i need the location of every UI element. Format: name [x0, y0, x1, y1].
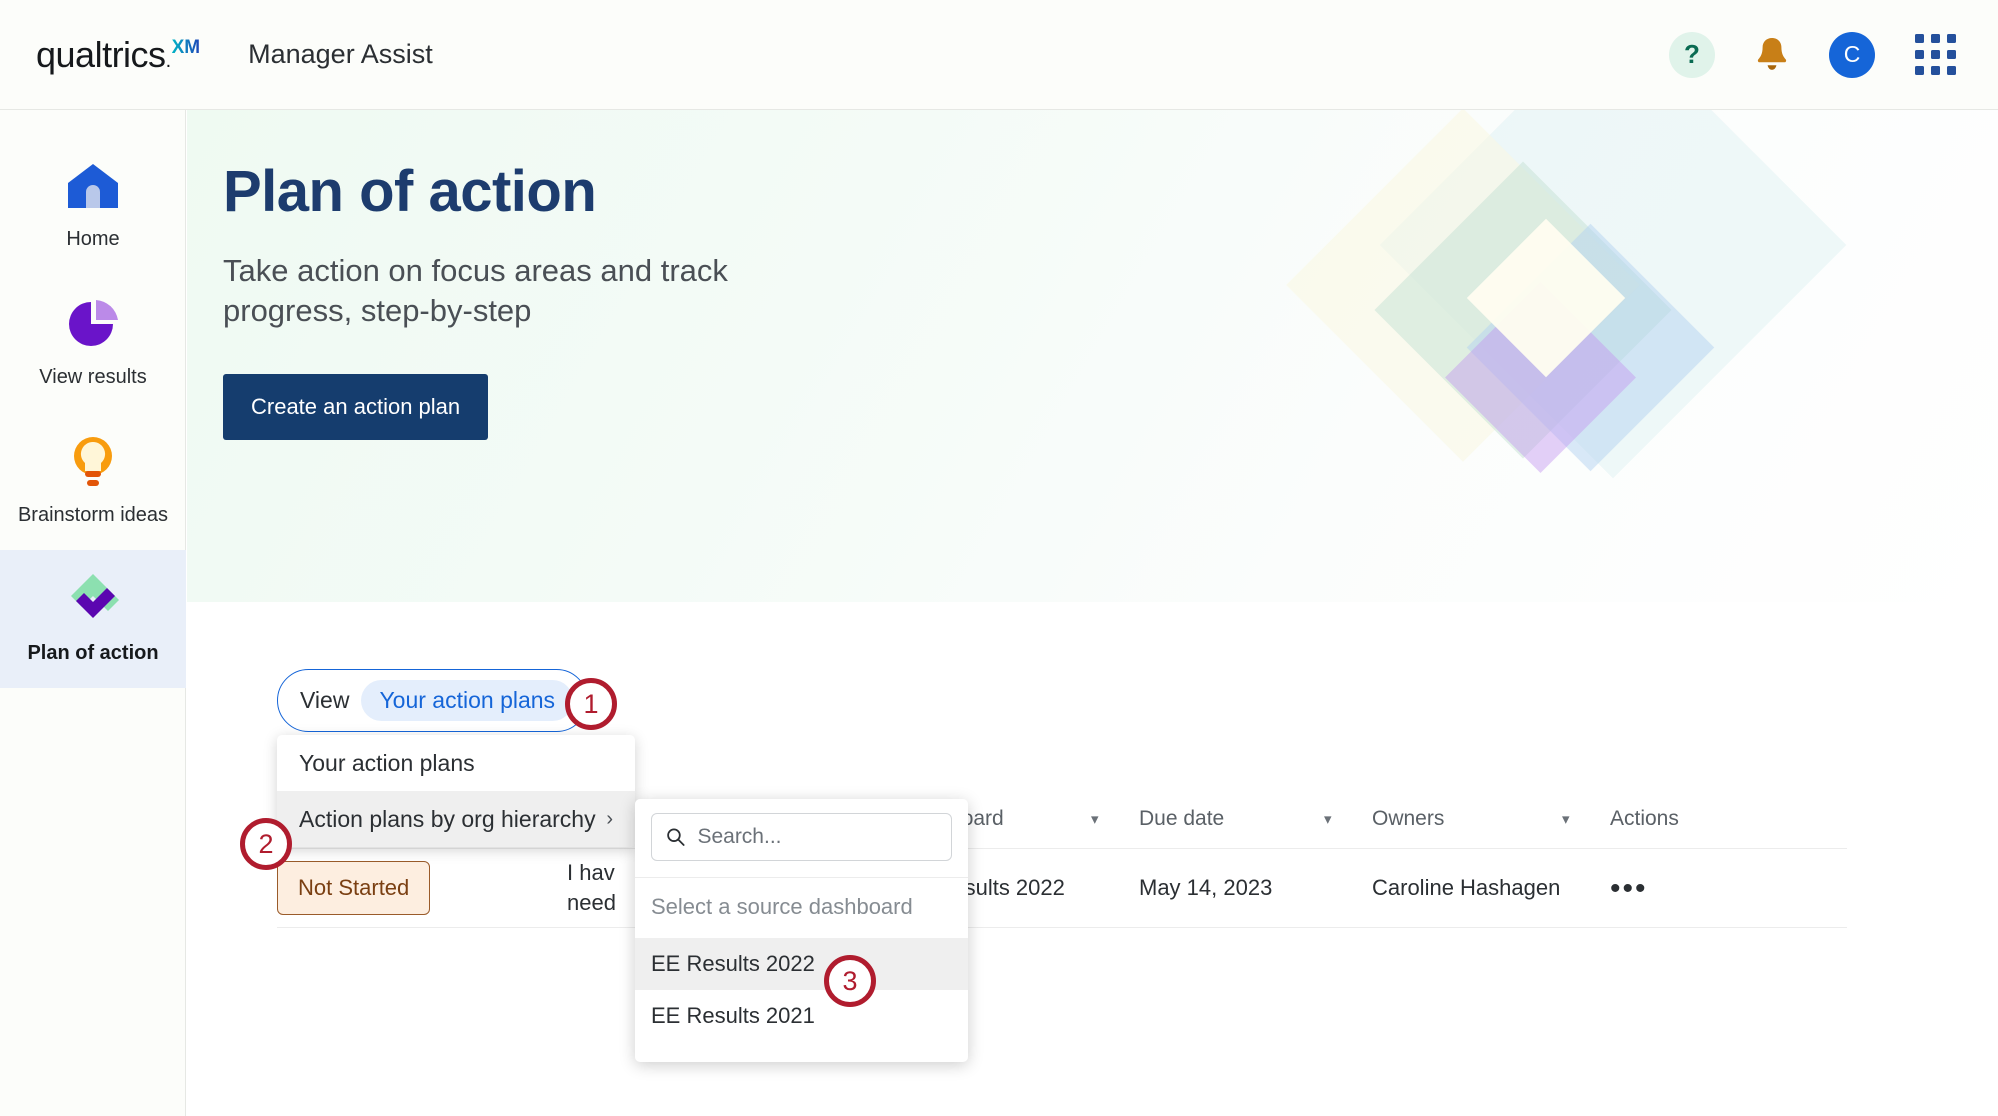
- home-icon: [10, 156, 176, 216]
- sidebar-item-view-results[interactable]: View results: [0, 274, 186, 412]
- row-actions-button[interactable]: •••: [1610, 881, 1648, 896]
- home-icon-svg: [65, 161, 121, 211]
- status-cell: Not Started: [277, 861, 567, 915]
- bell-icon-svg: [1755, 36, 1789, 74]
- pie-chart-icon: [10, 294, 176, 354]
- column-label: Actions: [1610, 807, 1679, 831]
- chevron-down-icon: ▾: [1324, 810, 1332, 828]
- step-badge-2: 2: [240, 818, 292, 870]
- table-sort-owners[interactable]: ▾: [1562, 810, 1610, 828]
- sidebar-item-plan-of-action[interactable]: Plan of action: [0, 550, 186, 688]
- page-title: Plan of action: [223, 158, 1998, 225]
- table-sort-dashboard[interactable]: ▾: [1091, 810, 1139, 828]
- status-badge: Not Started: [277, 861, 430, 915]
- search-icon: [666, 826, 685, 848]
- app-root: qualtrics. XM Manager Assist ? C: [0, 0, 1998, 1116]
- sidebar: Home View results Brainstorm ideas: [0, 110, 186, 1116]
- search-box[interactable]: [651, 813, 952, 861]
- owners-cell: Caroline Hashagen: [1372, 875, 1610, 901]
- menu-item-action-plans-by-org-hierarchy[interactable]: Action plans by org hierarchy ›: [277, 791, 635, 847]
- brand-logo[interactable]: qualtrics. XM: [36, 34, 200, 76]
- grid-dot: [1931, 50, 1940, 59]
- sidebar-item-label: Home: [10, 226, 176, 252]
- table-row[interactable]: Not Started I hav need gy I EE Results 2…: [277, 848, 1847, 928]
- chevron-down-icon: ▾: [1091, 810, 1099, 828]
- diamond-check-icon-svg: [63, 570, 123, 630]
- submenu-group-label: Select a source dashboard: [635, 878, 968, 938]
- submenu-bottom-padding: [635, 1042, 968, 1062]
- brand-xm-badge: XM: [172, 37, 201, 59]
- grid-dot: [1947, 50, 1956, 59]
- grid-menu-icon[interactable]: [1915, 34, 1956, 75]
- view-selector[interactable]: View Your action plans: [277, 669, 588, 732]
- submenu-option-ee-results-2021[interactable]: EE Results 2021: [635, 990, 968, 1042]
- submenu-option-label: EE Results 2022: [651, 951, 815, 977]
- view-selector-label: View: [300, 687, 349, 714]
- sidebar-item-label: Brainstorm ideas: [10, 502, 176, 528]
- sidebar-item-home[interactable]: Home: [0, 136, 186, 274]
- app-title: Manager Assist: [248, 39, 433, 70]
- submenu-option-label: EE Results 2021: [651, 1003, 815, 1029]
- view-dropdown-menu: Your action plans Action plans by org hi…: [277, 735, 635, 847]
- table-header-actions: Actions: [1610, 807, 1679, 831]
- grid-dot: [1915, 66, 1924, 75]
- menu-item-label: Your action plans: [299, 750, 475, 777]
- brand-logo-text: qualtrics.: [36, 34, 171, 76]
- pie-chart-icon-svg: [65, 296, 121, 352]
- step-badge-3: 3: [824, 955, 876, 1007]
- grid-dot: [1931, 66, 1940, 75]
- chevron-down-icon: ▾: [1562, 810, 1570, 828]
- sidebar-item-label: View results: [10, 364, 176, 390]
- submenu-option-ee-results-2022[interactable]: EE Results 2022: [635, 938, 968, 990]
- menu-item-label: Action plans by org hierarchy: [299, 806, 596, 833]
- grid-dot: [1915, 50, 1924, 59]
- grid-dot: [1947, 34, 1956, 43]
- column-label: Due date: [1139, 807, 1224, 831]
- hero-subtitle: Take action on focus areas and track pro…: [223, 251, 863, 332]
- due-date-cell: May 14, 2023: [1139, 875, 1372, 901]
- lightbulb-icon: [10, 432, 176, 492]
- create-action-plan-button[interactable]: Create an action plan: [223, 374, 488, 440]
- sidebar-item-label: Plan of action: [10, 640, 176, 666]
- step-badge-1: 1: [565, 678, 617, 730]
- hero-content: Plan of action Take action on focus area…: [187, 110, 1998, 440]
- top-bar-actions: ? C: [1669, 32, 1956, 78]
- help-icon[interactable]: ?: [1669, 32, 1715, 78]
- view-selector-value[interactable]: Your action plans: [361, 680, 573, 721]
- chevron-right-icon: ›: [606, 808, 613, 831]
- table-sort-due-date[interactable]: ▾: [1324, 810, 1372, 828]
- sidebar-item-brainstorm-ideas[interactable]: Brainstorm ideas: [0, 412, 186, 550]
- column-label: Owners: [1372, 807, 1444, 831]
- source-dashboard-submenu: Select a source dashboard EE Results 202…: [635, 799, 968, 1062]
- search-input[interactable]: [697, 825, 937, 849]
- diamond-check-icon: [10, 570, 176, 630]
- menu-item-your-action-plans[interactable]: Your action plans: [277, 735, 635, 791]
- grid-dot: [1915, 34, 1924, 43]
- top-bar: qualtrics. XM Manager Assist ? C: [0, 0, 1998, 110]
- table-header-due-date[interactable]: Due date: [1139, 807, 1324, 831]
- bell-icon[interactable]: [1755, 36, 1789, 74]
- hero-banner: Plan of action Take action on focus area…: [187, 110, 1998, 602]
- grid-dot: [1947, 66, 1956, 75]
- grid-dot: [1931, 34, 1940, 43]
- lightbulb-icon-svg: [69, 434, 117, 490]
- table-header-owners[interactable]: Owners: [1372, 807, 1562, 831]
- avatar[interactable]: C: [1829, 32, 1875, 78]
- submenu-search-area: [635, 799, 968, 877]
